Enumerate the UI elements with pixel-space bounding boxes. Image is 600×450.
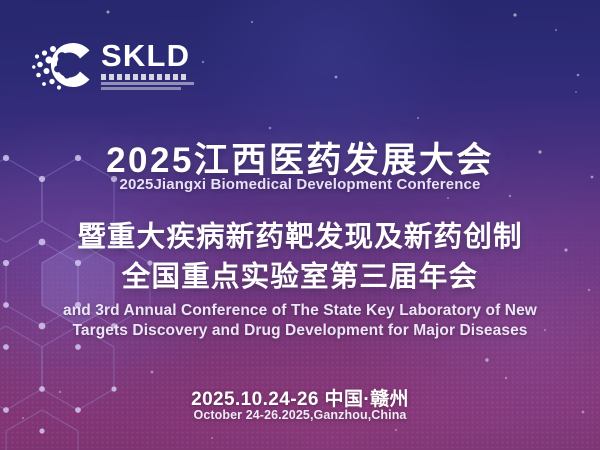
conference-subtitle-cn-line1: 暨重大疾病新药靶发现及新药创制	[0, 214, 600, 255]
conference-date-location-en: October 24-26.2025,Ganzhou,China	[0, 408, 600, 422]
skld-wordmark-group: SKLD 新药创制全国重点实验室 State Key Laboratory of…	[101, 40, 194, 90]
conference-subtitle-en-line1: and 3rd Annual Conference of The State K…	[0, 302, 600, 320]
conference-subtitle-cn-line2: 全国重点实验室第三届年会	[0, 254, 600, 295]
conference-date-location-cn: 2025.10.24-26 中国·赣州	[0, 384, 600, 411]
conference-poster: SKLD 新药创制全国重点实验室 State Key Laboratory of…	[0, 0, 600, 450]
conference-subtitle-en-line2: Targets Discovery and Drug Development f…	[0, 322, 600, 340]
skld-cn-subtitle: 新药创制全国重点实验室	[101, 74, 189, 80]
skld-logo: SKLD 新药创制全国重点实验室 State Key Laboratory of…	[32, 36, 194, 94]
conference-title-en: 2025Jiangxi Biomedical Development Confe…	[0, 176, 600, 193]
skld-en-subtitle: State Key Laboratory of New Targets Disc…	[101, 82, 194, 90]
skld-molecular-c-logo-icon	[32, 36, 94, 94]
skld-wordmark: SKLD	[101, 40, 194, 71]
